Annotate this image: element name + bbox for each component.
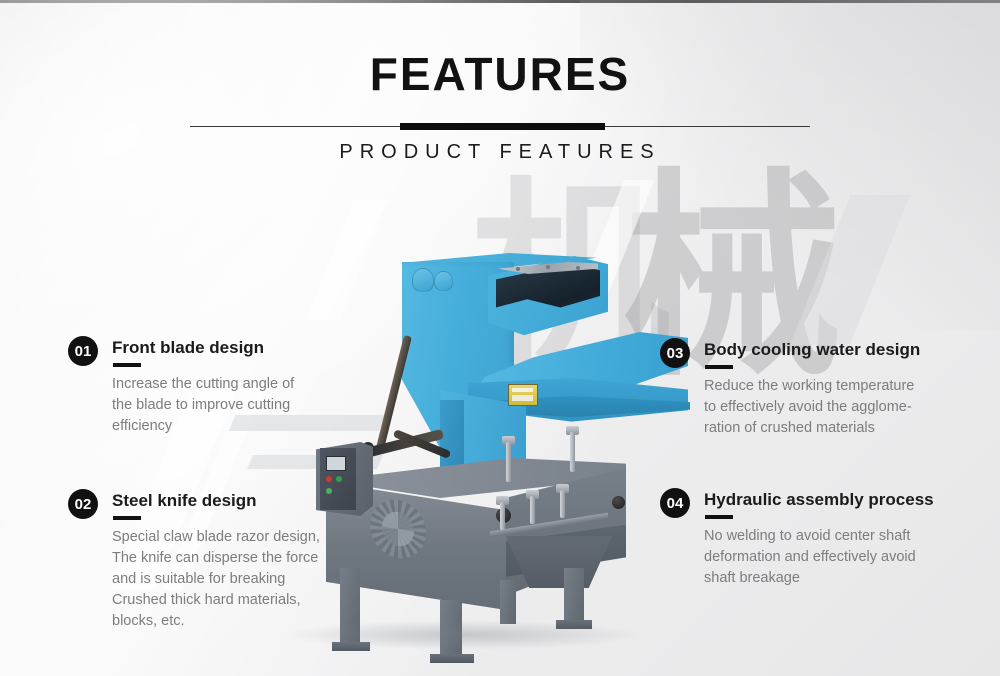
lug bbox=[434, 271, 453, 291]
watermark-stripe bbox=[790, 195, 911, 345]
feature-body: Special claw blade razor design, The kni… bbox=[112, 527, 320, 632]
feature-body-line: deformation and effectively avoid bbox=[704, 547, 916, 568]
feature-title: Hydraulic assembly process bbox=[704, 490, 934, 510]
leg-foot bbox=[430, 654, 474, 663]
support-leg bbox=[440, 600, 462, 660]
feature-number-badge: 02 bbox=[68, 489, 98, 519]
feature-body-line: and is suitable for breaking bbox=[112, 569, 320, 590]
clamp-bolt bbox=[502, 436, 515, 482]
feature-body-line: shaft breakage bbox=[704, 568, 916, 589]
feature-body: Reduce the working temperature to effect… bbox=[704, 376, 914, 439]
feature-body-line: Reduce the working temperature bbox=[704, 376, 914, 397]
feature-body-line: Special claw blade razor design, bbox=[112, 527, 320, 548]
start-button-green[interactable] bbox=[336, 476, 342, 482]
feature-body-line: the blade to improve cutting bbox=[112, 395, 294, 416]
aux-button-green[interactable] bbox=[326, 488, 332, 494]
page-subtitle: PRODUCT FEATURES bbox=[0, 141, 1000, 164]
feature-body-line: Increase the cutting angle of bbox=[112, 374, 294, 395]
leg-foot bbox=[556, 620, 592, 629]
feature-title: Steel knife design bbox=[112, 491, 257, 511]
feature-body-line: The knife can disperse the force bbox=[112, 548, 320, 569]
feature-title: Front blade design bbox=[112, 338, 264, 358]
feature-body: Increase the cutting angle of the blade … bbox=[112, 374, 294, 437]
support-leg bbox=[564, 568, 584, 626]
feature-body-line: to effectively avoid the agglome- bbox=[704, 397, 914, 418]
divider-thick-bar bbox=[400, 123, 605, 130]
feature-title-underline bbox=[705, 365, 733, 369]
feature-body-line: Crushed thick hard materials, bbox=[112, 590, 320, 611]
machine-door-knob bbox=[612, 496, 625, 509]
lug bbox=[412, 268, 434, 292]
warning-label bbox=[508, 384, 538, 406]
page-title: FEATURES bbox=[0, 48, 1000, 100]
feature-number-badge: 03 bbox=[660, 338, 690, 368]
feature-title-underline bbox=[113, 516, 141, 520]
feature-body-line: No welding to avoid center shaft bbox=[704, 526, 916, 547]
feature-title-underline bbox=[705, 515, 733, 519]
title-divider bbox=[190, 123, 810, 131]
top-border bbox=[0, 0, 1000, 3]
feature-title: Body cooling water design bbox=[704, 340, 920, 360]
feature-body-line: efficiency bbox=[112, 416, 294, 437]
clamp-bolt bbox=[496, 496, 509, 530]
support-leg bbox=[500, 580, 516, 624]
feature-title-underline bbox=[113, 363, 141, 367]
stop-button-red[interactable] bbox=[326, 476, 332, 482]
feature-number-badge: 04 bbox=[660, 488, 690, 518]
product-image bbox=[300, 250, 700, 660]
clamp-bolt bbox=[556, 484, 569, 518]
support-leg bbox=[340, 568, 360, 648]
feature-number-badge: 01 bbox=[68, 336, 98, 366]
feature-body-line: blocks, etc. bbox=[112, 611, 320, 632]
leg-foot bbox=[332, 642, 370, 651]
clamp-bolt bbox=[566, 426, 579, 472]
panel-meter bbox=[326, 456, 346, 471]
machine-lifting-lugs bbox=[412, 268, 458, 292]
feature-body: No welding to avoid center shaft deforma… bbox=[704, 526, 916, 589]
clamp-bolt bbox=[526, 490, 539, 524]
product-features-page: FEATURES PRODUCT FEATURES 机 械 bbox=[0, 0, 1000, 676]
feature-body-line: ration of crushed materials bbox=[704, 418, 914, 439]
